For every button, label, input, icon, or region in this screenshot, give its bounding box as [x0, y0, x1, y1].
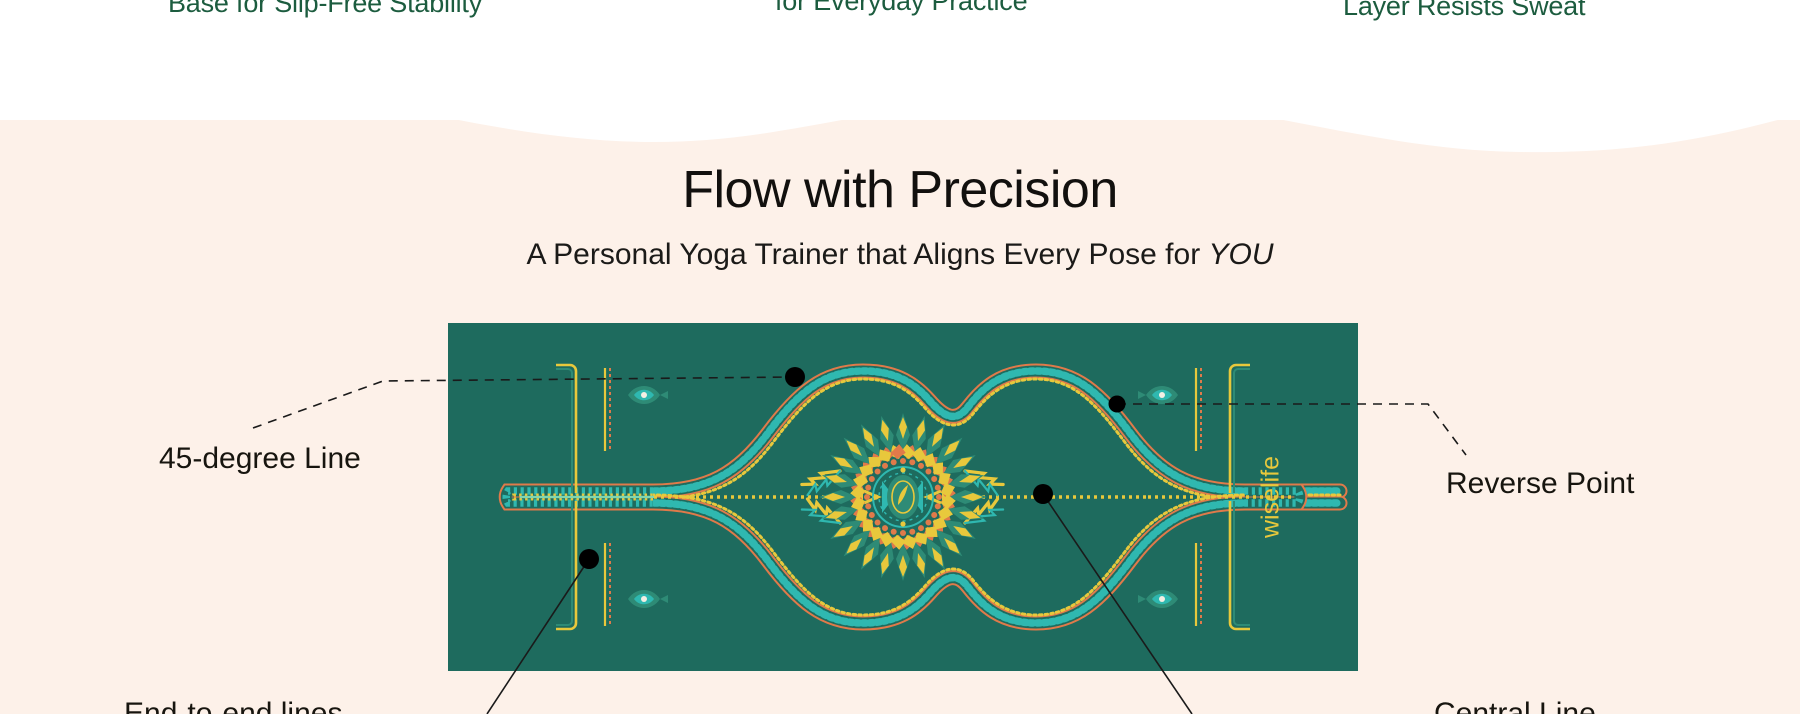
page-stage: Base for Slip-Free Stability for Everyda…: [0, 0, 1800, 714]
annotation-label-45-degree: 45-degree Line: [159, 441, 361, 477]
annotation-label-end-to-end: End-to-end lines: [124, 696, 342, 714]
subtitle-lead: A Personal Yoga Trainer that Aligns Ever…: [526, 238, 1208, 271]
top-white-band: Base for Slip-Free Stability for Everyda…: [0, 0, 1800, 120]
page-subtitle: A Personal Yoga Trainer that Aligns Ever…: [0, 237, 1800, 273]
annotation-label-reverse-point: Reverse Point: [1446, 466, 1634, 502]
mandala-motif: [818, 412, 988, 582]
feature-heading-everyday: for Everyday Practice: [775, 0, 1027, 16]
yoga-mat-svg: wiselife: [448, 323, 1358, 671]
feature-heading-sweat: Layer Resists Sweat: [1343, 0, 1585, 21]
feature-heading-stability: Base for Slip-Free Stability: [168, 0, 482, 18]
subtitle-emphasis: YOU: [1209, 238, 1274, 271]
brand-wordmark: wiselife: [1257, 456, 1285, 539]
annotation-label-central-line: Central Line: [1434, 696, 1596, 714]
page-title: Flow with Precision: [0, 160, 1800, 220]
yoga-mat-image: wiselife: [448, 323, 1358, 671]
